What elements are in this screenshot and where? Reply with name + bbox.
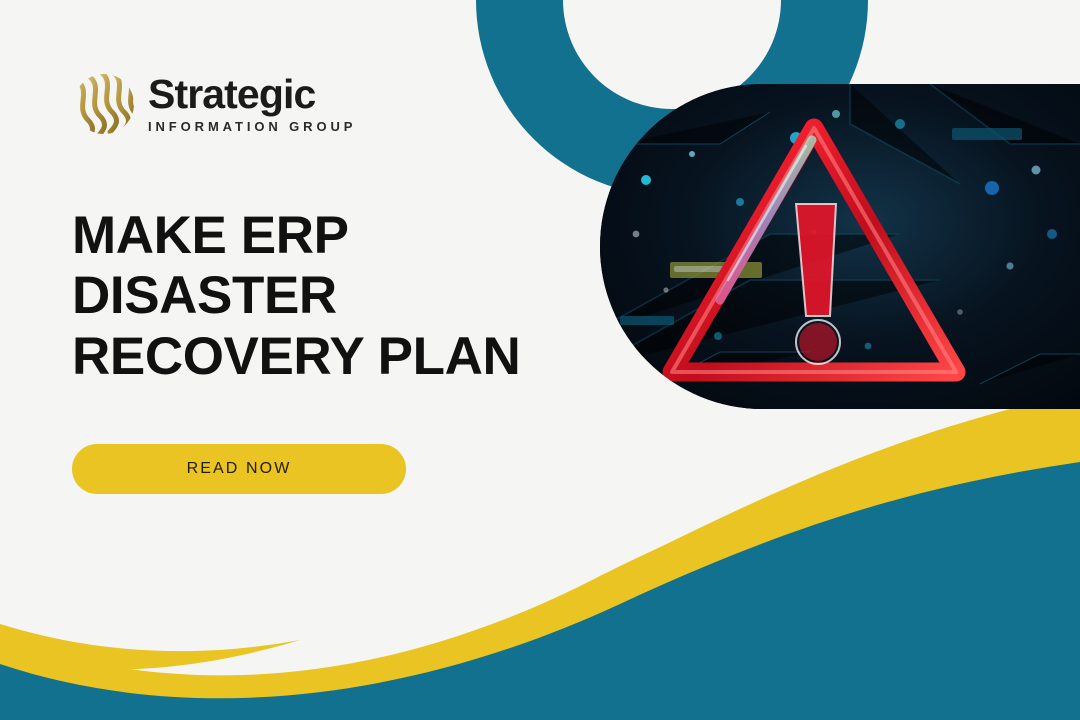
- wave-white-sliver: [600, 470, 1080, 600]
- brand-wordmark: Strategic: [148, 74, 356, 116]
- headline-line-3: RECOVERY PLAN: [72, 327, 592, 387]
- headline: MAKE ERP DISASTER RECOVERY PLAN: [72, 206, 592, 387]
- wave-teal-body: [0, 462, 1080, 720]
- brand-tagline: INFORMATION GROUP: [148, 119, 356, 134]
- wave-teal-upper: [600, 448, 1080, 620]
- wave-gold-upper: [600, 392, 1080, 612]
- brand-lockup-text: Strategic INFORMATION GROUP: [148, 74, 356, 134]
- read-now-button[interactable]: READ NOW: [72, 444, 406, 494]
- striped-globe-icon: [72, 72, 136, 136]
- hero-image-card: [600, 84, 1080, 409]
- brand-logo[interactable]: Strategic INFORMATION GROUP: [72, 72, 356, 136]
- headline-line-1: MAKE ERP: [72, 206, 592, 266]
- wave-gold-left-edge: [0, 624, 300, 669]
- promo-banner: Strategic INFORMATION GROUP MAKE ERP DIS…: [0, 0, 1080, 720]
- headline-line-2: DISASTER: [72, 266, 592, 326]
- warning-triangle-icon: [600, 84, 1080, 409]
